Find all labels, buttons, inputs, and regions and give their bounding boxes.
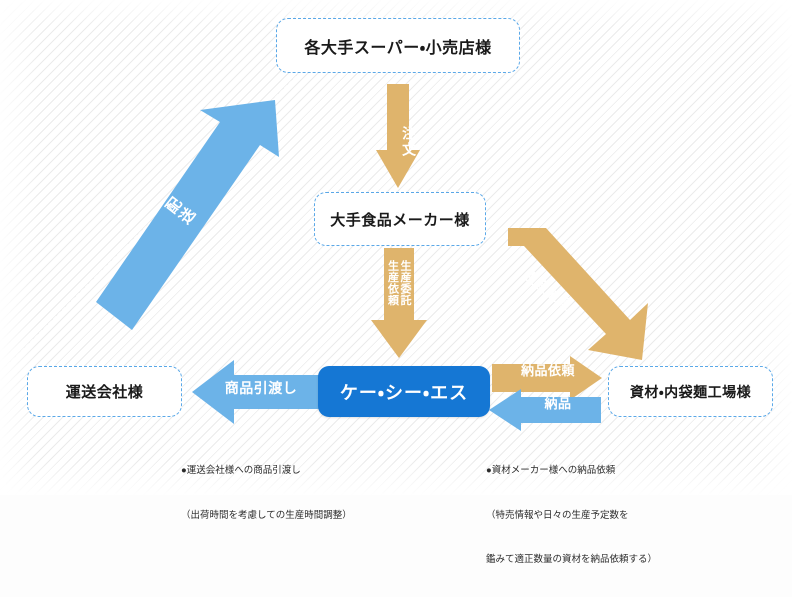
footnote-materials-line-3: 鑑みて適正数量の資材を納品依頼する）	[486, 553, 657, 568]
arrow-goods-handover	[192, 360, 322, 424]
node-shipping-company[interactable]: 運送会社様	[27, 366, 182, 417]
arrow-order	[376, 84, 420, 188]
node-kcs[interactable]: ケー・シー・エス	[318, 366, 490, 417]
arrow-delivery	[96, 100, 296, 330]
arrow-production-consignment	[371, 248, 427, 358]
footnote-materials-line-1: ●資材メーカー様への納品依頼	[486, 464, 657, 479]
footnote-shipping-line-1: ●運送会社様への商品引渡し	[181, 464, 352, 479]
arrow-production-request	[484, 228, 664, 360]
node-food-maker[interactable]: 大手食品メーカー様	[314, 192, 486, 246]
footnote-materials: ●資材メーカー様への納品依頼 （特売情報や日々の生産予定数を 鑑みて適正数量の資…	[486, 435, 657, 597]
node-retail-stores[interactable]: 各大手スーパー・小売店様	[276, 18, 520, 73]
footnote-shipping: ●運送会社様への商品引渡し （出荷時間を考慮しての生産時間調整）	[181, 435, 352, 553]
footnote-shipping-line-2: （出荷時間を考慮しての生産時間調整）	[181, 509, 352, 524]
arrow-supply	[489, 389, 601, 431]
footnote-materials-line-2: （特売情報や日々の生産予定数を	[486, 509, 657, 524]
supply-chain-diagram: 注文 生産委託 生産依頼 生産依頼 配送 商品引渡し 納品依頼 納品 各大手スー…	[0, 0, 792, 495]
node-materials-factory[interactable]: 資材・内袋麺工場様	[608, 366, 773, 417]
